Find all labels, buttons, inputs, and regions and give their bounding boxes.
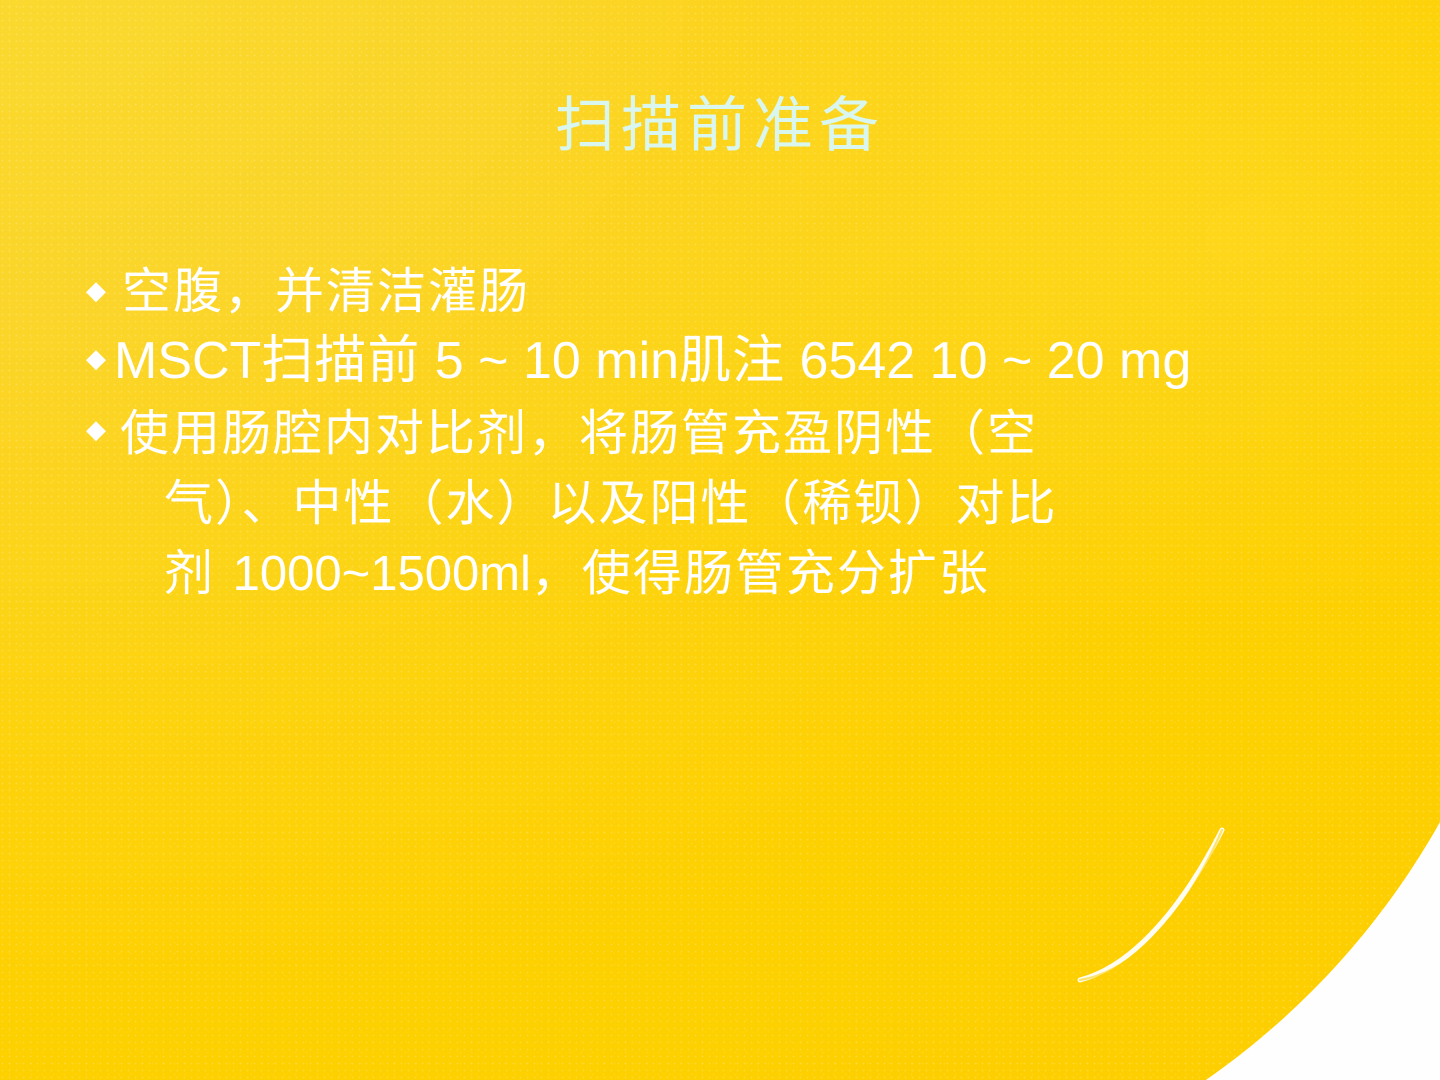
bullet3-volume-value: 1000~1500ml: [233, 547, 531, 601]
diamond-bullet-icon: ◆: [86, 262, 106, 304]
bullet2-latin-3: 6542 10 ~ 20 mg: [785, 332, 1191, 390]
bullet3-line-3-prefix: 剂: [164, 545, 233, 602]
bullet2-latin-2: 5 ~ 10 min: [420, 332, 679, 390]
diamond-bullet-icon: ◆: [86, 399, 106, 443]
bullet-list: ◆ 空腹，并清洁灌肠 ◆ MSCT扫描前 5 ~ 10 min肌注 6542 1…: [86, 262, 1376, 610]
list-item-label: MSCT扫描前 5 ~ 10 min肌注 6542 10 ~ 20 mg: [114, 328, 1376, 396]
bullet3-line-1: 使用肠腔内对比剂，将肠管充盈阴性（空: [120, 405, 1038, 462]
list-item: ◆ 使用肠腔内对比剂，将肠管充盈阴性（空 气）、中性（水）以及阳性（稀钡）对比 …: [86, 399, 1376, 609]
list-item-label: 使用肠腔内对比剂，将肠管充盈阴性（空 气）、中性（水）以及阳性（稀钡）对比 剂 …: [120, 399, 1376, 609]
page-title: 扫描前准备: [0, 92, 1440, 161]
slide-canvas: 扫描前准备 ◆ 空腹，并清洁灌肠 ◆ MSCT扫描前 5 ~ 10 min肌注 …: [0, 0, 1440, 1080]
list-item: ◆ 空腹，并清洁灌肠: [86, 262, 1376, 322]
list-item: ◆ MSCT扫描前 5 ~ 10 min肌注 6542 10 ~ 20 mg: [86, 328, 1376, 396]
list-item-label: 空腹，并清洁灌肠: [122, 262, 1376, 322]
bullet2-cjk-1: 扫描前: [261, 331, 420, 391]
bullet2-cjk-2: 肌注: [679, 331, 785, 391]
bullet3-line-3: 剂 1000~1500ml，使得肠管充分扩张: [120, 539, 1376, 609]
bullet2-latin-1: MSCT: [114, 332, 261, 390]
bullet3-line-2: 气）、中性（水）以及阳性（稀钡）对比: [120, 469, 1376, 539]
bullet3-line-3-suffix: ，使得肠管充分扩张: [531, 545, 990, 602]
diamond-bullet-icon: ◆: [86, 328, 106, 372]
